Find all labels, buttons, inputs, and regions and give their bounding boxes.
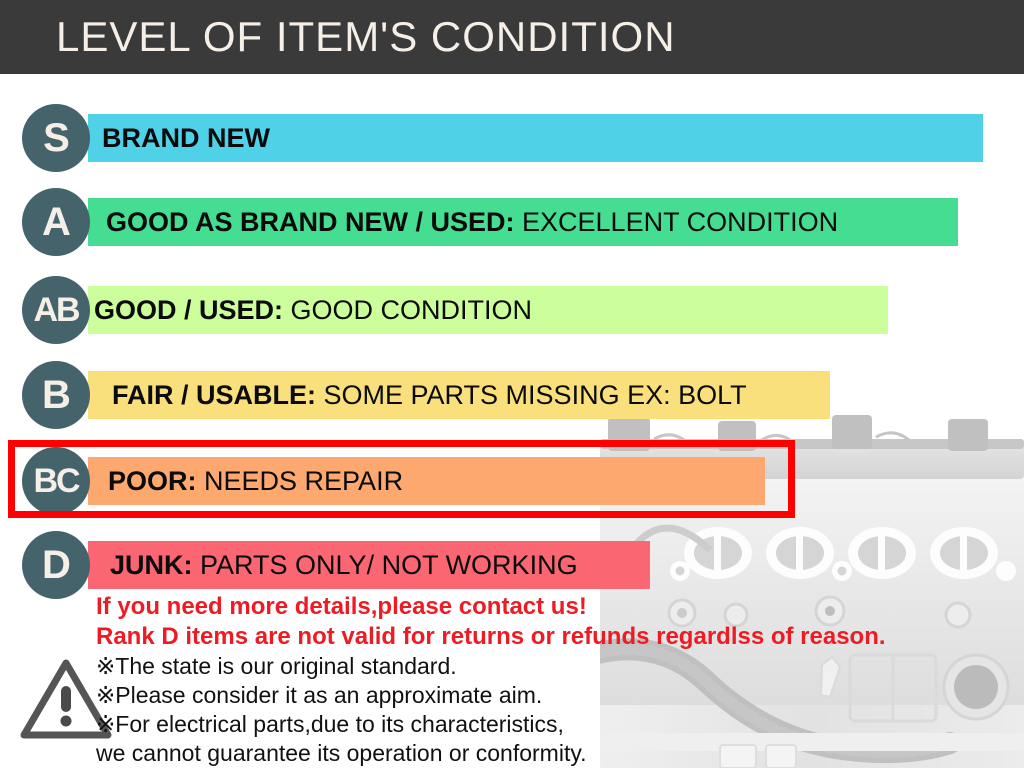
rank-bar-d: JUNK: PARTS ONLY/ NOT WORKING — [88, 541, 650, 589]
header-bar: LEVEL OF ITEM'S CONDITION — [0, 0, 1024, 74]
note-black-1: ※The state is our original standard. — [96, 652, 1024, 681]
note-red-1: If you need more details,please contact … — [96, 592, 1024, 622]
rank-badge-label-ab: AB — [33, 290, 78, 330]
rank-description-d: JUNK: PARTS ONLY/ NOT WORKING — [110, 551, 578, 579]
rank-bar-ab: GOOD / USED: GOOD CONDITION — [88, 286, 888, 334]
rank-badge-a: A — [22, 188, 90, 256]
rank-badge-label-a: A — [42, 202, 70, 242]
rank-badge-bc: BC — [22, 447, 90, 515]
rank-badge-label-b: B — [42, 375, 70, 415]
rank-description-b: FAIR / USABLE: SOME PARTS MISSING EX: BO… — [112, 381, 747, 409]
footer-notes: If you need more details,please contact … — [96, 592, 1024, 768]
rank-bar-bc: POOR: NEEDS REPAIR — [88, 457, 765, 505]
condition-chart-page: LEVEL OF ITEM'S CONDITION BRAND NEW S GO… — [0, 0, 1024, 768]
rank-badge-label-s: S — [43, 118, 69, 158]
rank-badge-ab: AB — [22, 276, 90, 344]
rank-bar-a: GOOD AS BRAND NEW / USED: EXCELLENT COND… — [88, 198, 958, 246]
rank-bar-s: BRAND NEW — [88, 114, 983, 162]
rank-badge-b: B — [22, 361, 90, 429]
rank-description-s: BRAND NEW — [102, 124, 270, 152]
rank-badge-s: S — [22, 104, 90, 172]
page-title: LEVEL OF ITEM'S CONDITION — [56, 14, 676, 60]
rank-description-bc: POOR: NEEDS REPAIR — [108, 467, 403, 495]
rank-description-a: GOOD AS BRAND NEW / USED: EXCELLENT COND… — [106, 208, 838, 236]
rank-bar-b: FAIR / USABLE: SOME PARTS MISSING EX: BO… — [88, 371, 830, 419]
note-red-2: Rank D items are not valid for returns o… — [96, 622, 1024, 652]
rank-badge-d: D — [22, 531, 90, 599]
rank-badge-label-bc: BC — [33, 461, 78, 501]
note-black-4: we cannot guarantee its operation or con… — [96, 739, 1024, 768]
note-black-3: ※For electrical parts,due to its charact… — [96, 710, 1024, 739]
rank-description-ab: GOOD / USED: GOOD CONDITION — [94, 296, 532, 324]
rank-badge-label-d: D — [42, 545, 70, 585]
note-black-2: ※Please consider it as an approximate ai… — [96, 681, 1024, 710]
